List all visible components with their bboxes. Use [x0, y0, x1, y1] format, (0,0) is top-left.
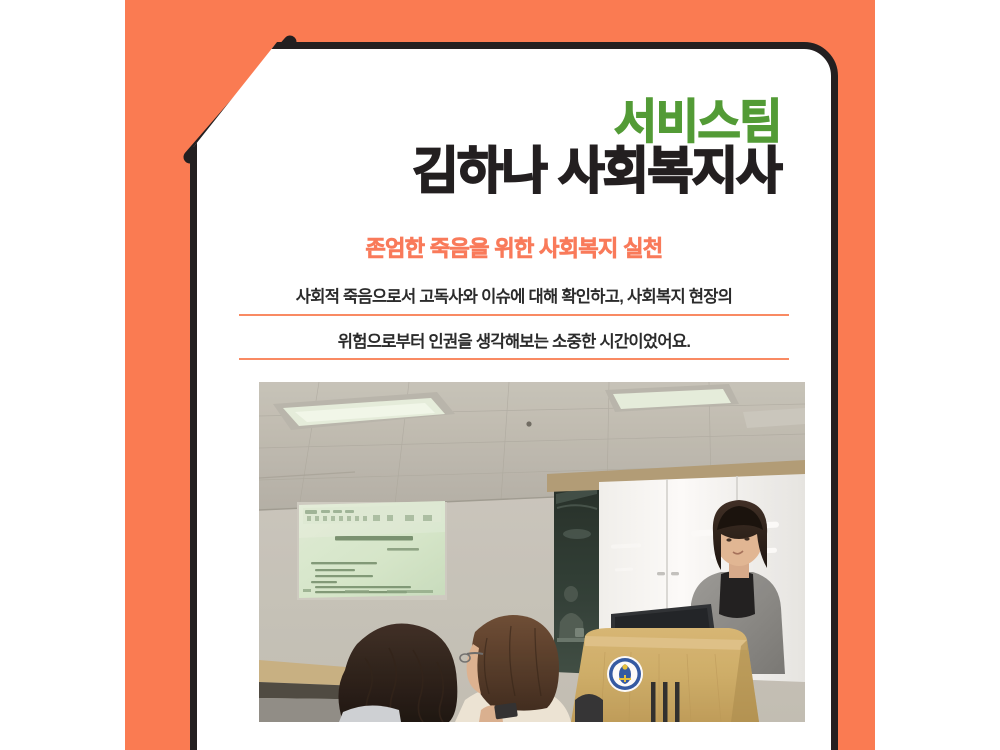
event-photo	[259, 382, 805, 722]
event-photo-image	[259, 382, 805, 722]
divider-rule-2	[239, 358, 789, 360]
divider-rule-1	[239, 314, 789, 316]
team-name: 서비스팀	[239, 99, 781, 144]
headline-group: 서비스팀 김하나 사회복지사	[239, 49, 789, 197]
body-text-block: 사회적 죽음으로서 고독사와 이슈에 대해 확인하고, 사회복지 현장의 위험으…	[239, 285, 789, 360]
poster-subtitle: 존엄한 죽음을 위한 사회복지 실천	[239, 231, 789, 263]
body-line-1: 사회적 죽음으로서 고독사와 이슈에 대해 확인하고, 사회복지 현장의	[239, 285, 789, 314]
poster-canvas: 서비스팀 김하나 사회복지사 존엄한 죽음을 위한 사회복지 실천 사회적 죽음…	[0, 0, 1000, 750]
body-line-2: 위험으로부터 인권을 생각해보는 소중한 시간이었어요.	[239, 330, 789, 359]
person-title: 김하나 사회복지사	[239, 146, 781, 197]
